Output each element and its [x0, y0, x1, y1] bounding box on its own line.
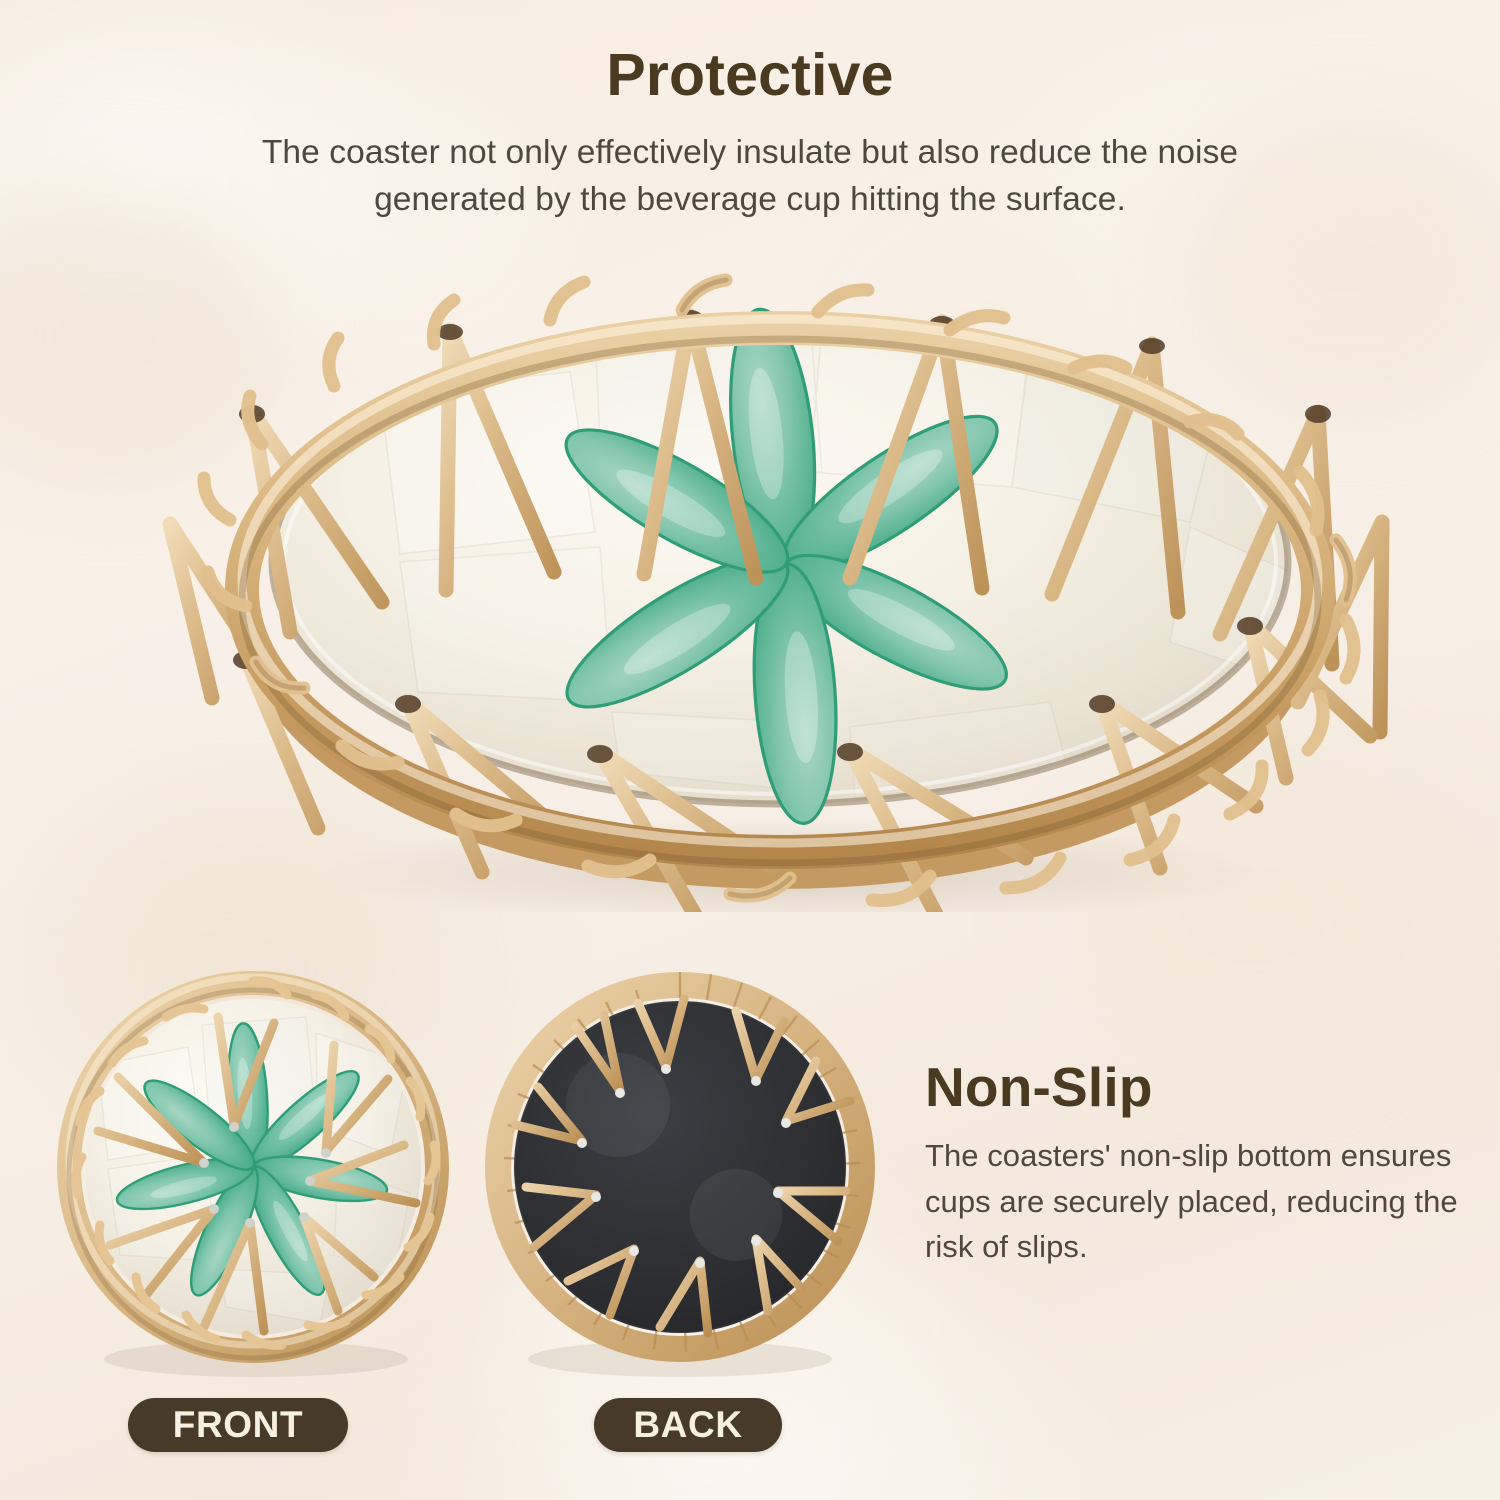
nonslip-body-line-2: cups are securely placed, reducing the	[925, 1179, 1475, 1224]
front-thumbnail-image	[38, 955, 468, 1385]
headline-block: Protective The coaster not only effectiv…	[0, 44, 1500, 224]
page-title: Protective	[0, 44, 1500, 107]
nonslip-title: Non-Slip	[925, 1058, 1475, 1117]
back-thumbnail-image	[468, 955, 898, 1385]
hero-coaster-svg	[150, 272, 1410, 912]
nonslip-body-line-1: The coasters' non-slip bottom ensures	[925, 1133, 1475, 1178]
front-badge-label: FRONT	[173, 1404, 303, 1446]
back-badge-label: BACK	[633, 1404, 742, 1446]
subtitle-line-1: The coaster not only effectively insulat…	[0, 129, 1500, 177]
front-thumbnail-svg	[38, 955, 468, 1385]
page-subtitle: The coaster not only effectively insulat…	[0, 129, 1500, 224]
nonslip-body-line-3: risk of slips.	[925, 1224, 1475, 1269]
hero-coaster-image	[150, 272, 1410, 912]
back-badge: BACK	[594, 1398, 782, 1452]
subtitle-line-2: generated by the beverage cup hitting th…	[0, 176, 1500, 224]
back-thumbnail-svg	[468, 955, 898, 1385]
nonslip-body: The coasters' non-slip bottom ensures cu…	[925, 1133, 1475, 1269]
front-badge: FRONT	[128, 1398, 348, 1452]
nonslip-block: Non-Slip The coasters' non-slip bottom e…	[925, 1058, 1475, 1269]
